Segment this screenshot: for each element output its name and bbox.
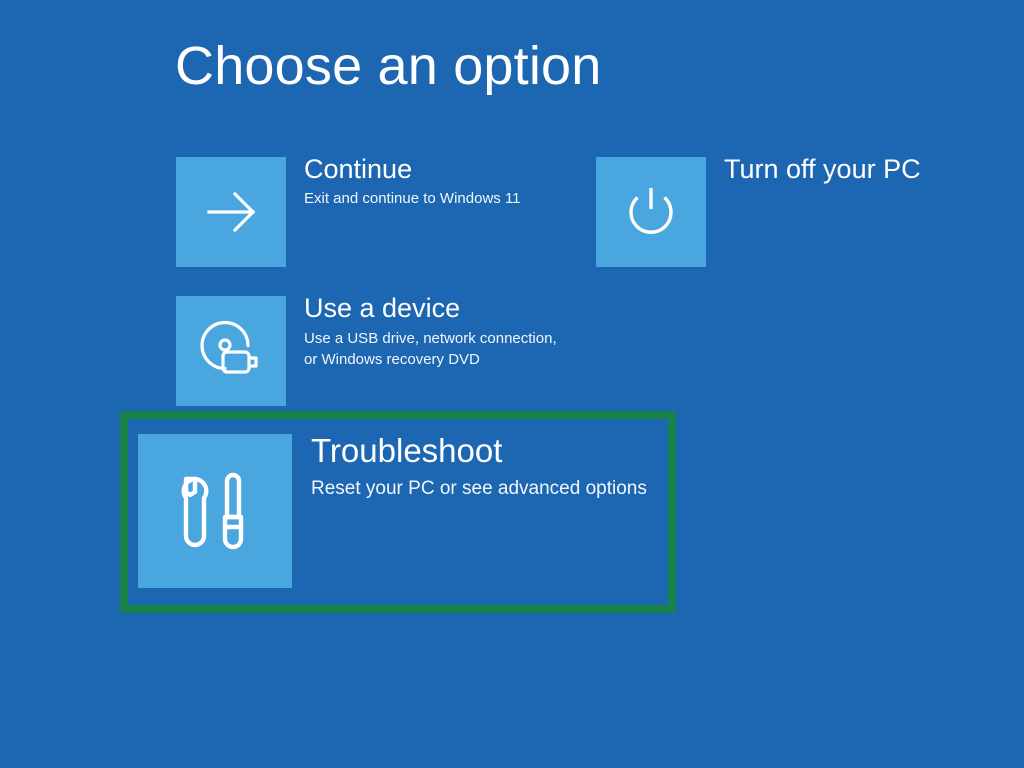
option-use-a-device-text: Use a device Use a USB drive, network co… <box>304 291 557 370</box>
wrench-screwdriver-icon <box>165 461 265 561</box>
option-turn-off-pc[interactable]: Turn off your PC <box>596 157 921 267</box>
option-continue-text: Continue Exit and continue to Windows 11 <box>304 152 521 209</box>
option-use-a-device-subtitle: Use a USB drive, network connection, or … <box>304 328 557 370</box>
power-icon <box>615 176 687 248</box>
option-turn-off-pc-title: Turn off your PC <box>724 152 921 186</box>
option-continue-subtitle: Exit and continue to Windows 11 <box>304 189 521 209</box>
option-troubleshoot-text: Troubleshoot Reset your PC or see advanc… <box>311 430 647 501</box>
option-continue[interactable]: Continue Exit and continue to Windows 11 <box>176 157 521 267</box>
option-use-a-device[interactable]: Use a device Use a USB drive, network co… <box>176 296 557 406</box>
option-use-a-device-tile[interactable] <box>176 296 286 406</box>
option-continue-tile[interactable] <box>176 157 286 267</box>
recovery-options-screen: Choose an option Continue Exit and conti… <box>0 0 1024 768</box>
option-continue-title: Continue <box>304 152 521 186</box>
disc-usb-icon <box>194 314 268 388</box>
option-use-a-device-title: Use a device <box>304 291 557 325</box>
option-turn-off-pc-tile[interactable] <box>596 157 706 267</box>
option-troubleshoot-subtitle: Reset your PC or see advanced options <box>311 476 647 501</box>
page-title: Choose an option <box>175 38 602 95</box>
option-turn-off-pc-text: Turn off your PC <box>724 152 921 186</box>
option-troubleshoot-tile[interactable] <box>138 434 292 588</box>
option-troubleshoot-title: Troubleshoot <box>311 430 647 472</box>
option-troubleshoot[interactable]: Troubleshoot Reset your PC or see advanc… <box>138 434 647 588</box>
arrow-right-icon <box>195 176 267 248</box>
